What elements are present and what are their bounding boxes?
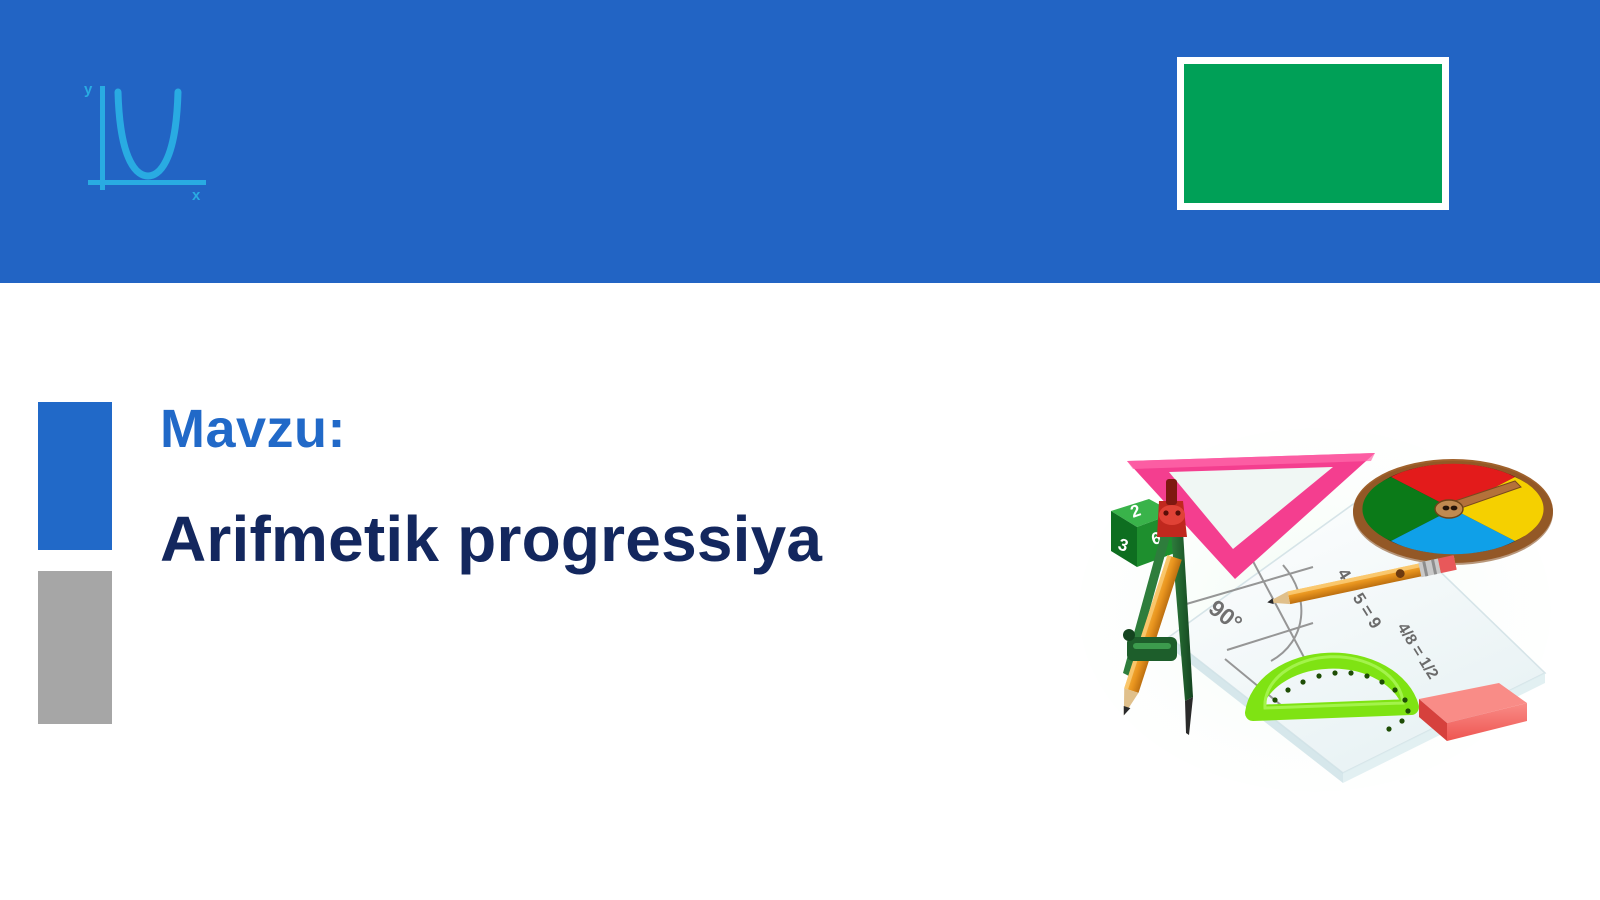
slide-root: y x Mavzu: Arifmetik progressiya bbox=[0, 0, 1600, 900]
math-tools-illustration: 90° 4 + 5 = 9 4/8 = 1/2 2 3 6 bbox=[1075, 415, 1555, 795]
accent-bar-blue bbox=[38, 402, 112, 550]
page-title: Arifmetik progressiya bbox=[160, 504, 1020, 574]
green-content-panel[interactable] bbox=[1177, 57, 1449, 210]
green-panel-fill bbox=[1184, 64, 1442, 203]
top-banner: y x bbox=[0, 0, 1600, 283]
svg-text:y: y bbox=[84, 81, 93, 98]
accent-bar-gray bbox=[38, 571, 112, 724]
title-block: Mavzu: Arifmetik progressiya bbox=[160, 398, 1020, 574]
topic-label: Mavzu: bbox=[160, 398, 1020, 460]
spinner-wheel bbox=[1353, 459, 1553, 565]
parabola-graph-icon: y x bbox=[82, 80, 212, 202]
svg-text:x: x bbox=[192, 187, 201, 202]
